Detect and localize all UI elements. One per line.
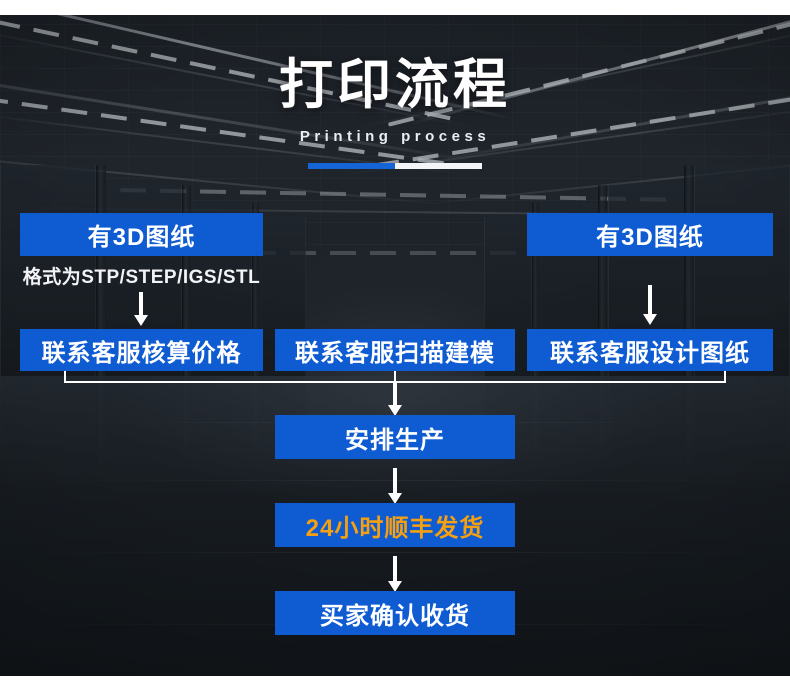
arrow-down-icon: [134, 292, 148, 326]
connector-stub-right: [724, 371, 726, 382]
arrow-down-icon: [643, 285, 657, 325]
flow-caption-file-formats: 格式为STP/STEP/IGS/STL: [20, 262, 263, 289]
top-white-band: [0, 0, 790, 15]
flow-node-buyer-confirm-receipt[interactable]: 买家确认收货: [275, 591, 515, 635]
flow-node-has-3d-drawing-left[interactable]: 有3D图纸: [20, 213, 263, 256]
arrow-down-icon: [388, 556, 402, 592]
connector-stub-middle: [394, 371, 396, 382]
bottom-white-band: [0, 676, 790, 696]
connector-stub-left: [64, 371, 66, 382]
flow-node-arrange-production[interactable]: 安排生产: [275, 415, 515, 459]
arrow-down-icon: [388, 382, 402, 416]
print-process-infographic: 打印流程 Printing process 有3D图纸 格式为STP/STEP/…: [0, 0, 790, 696]
flow-node-contact-support-quote[interactable]: 联系客服核算价格: [20, 329, 263, 371]
flow-node-has-3d-drawing-right[interactable]: 有3D图纸: [527, 213, 773, 256]
flow-node-24h-sf-shipping[interactable]: 24小时顺丰发货: [275, 503, 515, 547]
flow-diagram: 有3D图纸 格式为STP/STEP/IGS/STL 有3D图纸 联系客服核算价格…: [0, 0, 790, 696]
flow-node-contact-support-design-drawing[interactable]: 联系客服设计图纸: [527, 329, 773, 371]
arrow-down-icon: [388, 468, 402, 504]
flow-node-contact-support-scan-model[interactable]: 联系客服扫描建模: [275, 329, 515, 371]
